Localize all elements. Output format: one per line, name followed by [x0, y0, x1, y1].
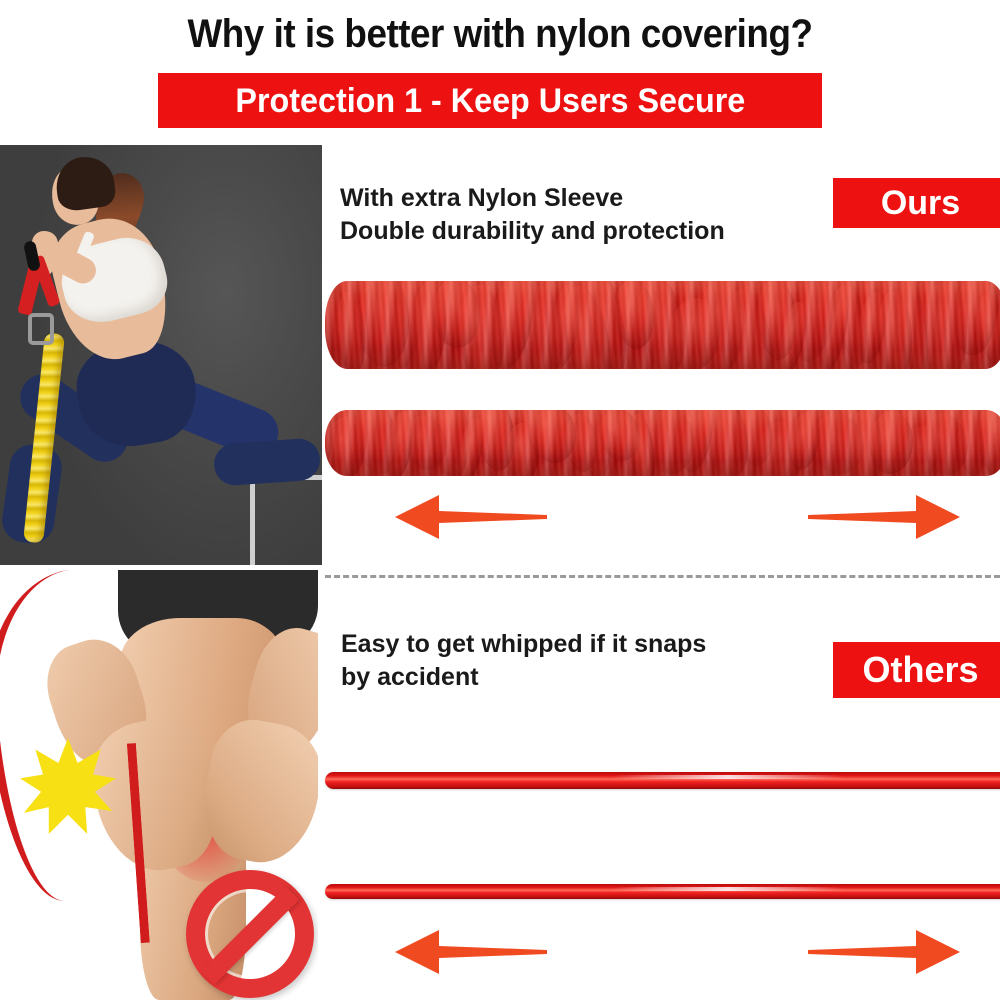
stretch-arrow-right-top	[808, 494, 960, 540]
arrow-right-icon	[808, 494, 960, 540]
arrow-left-icon	[395, 929, 547, 975]
ours-badge-label: Ours	[881, 184, 960, 223]
others-badge: Others	[833, 642, 1000, 698]
band-ruffle-texture	[325, 410, 1000, 476]
stretch-arrow-left-top	[395, 494, 547, 540]
arrow-left-icon	[395, 494, 547, 540]
nylon-sleeved-band-1	[325, 281, 1000, 369]
nylon-sleeved-band-2	[325, 410, 1000, 476]
bench-shape	[250, 475, 322, 565]
infographic-page: Why it is better with nylon covering? Pr…	[0, 0, 1000, 1000]
others-photo	[0, 570, 318, 1000]
others-badge-label: Others	[862, 649, 978, 691]
ours-photo	[0, 145, 322, 565]
protection-banner: Protection 1 - Keep Users Secure	[158, 73, 822, 128]
ours-description: With extra Nylon Sleeve Double durabilit…	[340, 182, 820, 248]
rear-shin-shape	[213, 437, 322, 486]
others-description: Easy to get whipped if it snaps by accid…	[341, 628, 811, 694]
arrow-right-icon	[808, 929, 960, 975]
carabiner-clip-shape	[28, 313, 54, 345]
protection-banner-label: Protection 1 - Keep Users Secure	[235, 83, 745, 119]
stretch-arrow-left-bottom	[395, 929, 547, 975]
page-title: Why it is better with nylon covering?	[40, 12, 960, 56]
hair-shape	[53, 153, 118, 213]
band-ruffle-texture	[325, 281, 1000, 369]
tube-highlight	[612, 775, 844, 779]
bare-latex-tube-1	[325, 772, 1000, 789]
tube-highlight	[612, 887, 844, 891]
yellow-sleeved-band-shape	[23, 333, 65, 544]
stretch-arrow-right-bottom	[808, 929, 960, 975]
section-divider	[325, 575, 1000, 578]
ours-badge: Ours	[833, 178, 1000, 228]
bare-latex-tube-2	[325, 884, 1000, 899]
